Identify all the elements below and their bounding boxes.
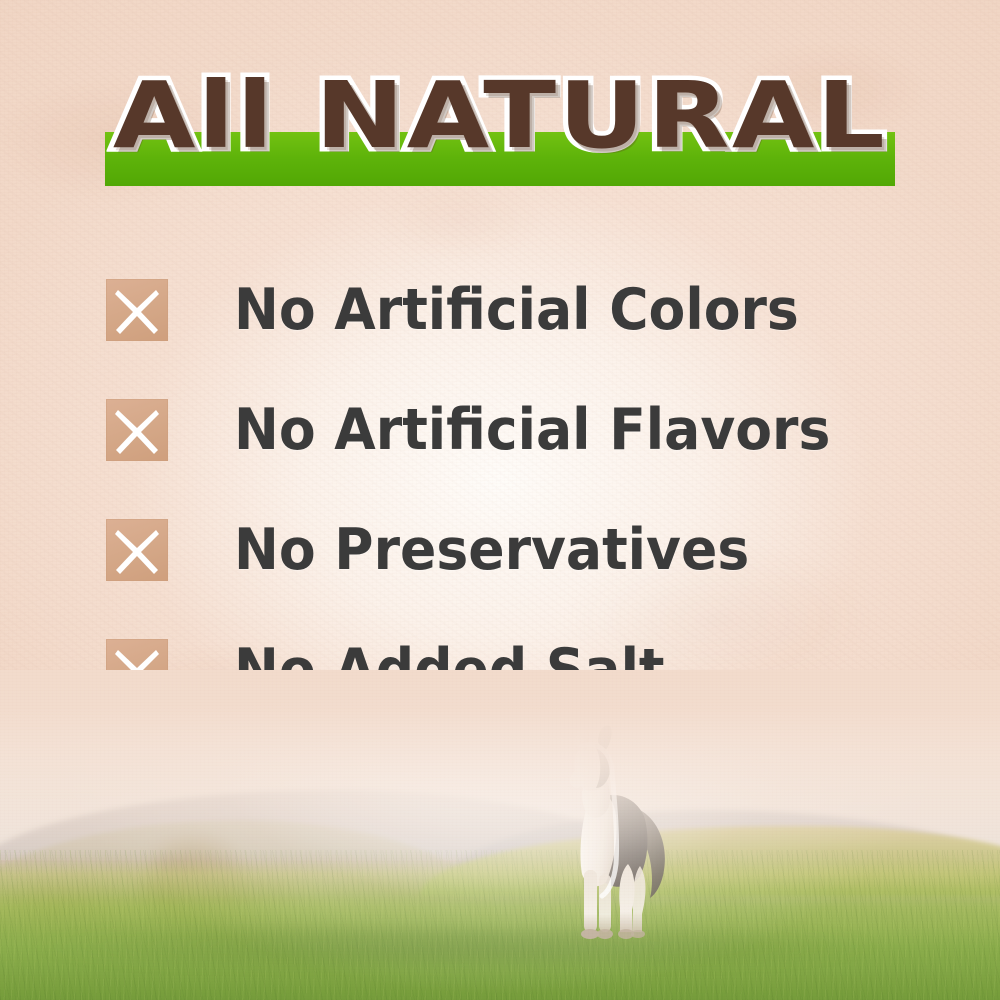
photo-scene <box>0 670 1000 1000</box>
x-mark-icon <box>106 399 168 461</box>
all-natural-product-infographic: All NATURAL No Artificial Colors No Arti… <box>0 0 1000 1000</box>
border-collie-dog <box>536 724 686 944</box>
list-item: No Artificial Colors <box>0 250 1000 370</box>
list-item-label: No Preservatives <box>234 520 749 580</box>
list-item: No Preservatives <box>0 490 1000 610</box>
list-item-label: No Artificial Colors <box>234 280 799 340</box>
grass-texture <box>0 850 1000 1000</box>
x-mark-icon <box>106 519 168 581</box>
feature-checklist: No Artificial Colors No Artificial Flavo… <box>0 250 1000 730</box>
list-item: No Artificial Flavors <box>0 370 1000 490</box>
header: All NATURAL <box>0 0 1000 215</box>
page-title: All NATURAL <box>0 70 1000 162</box>
list-item-label: No Artificial Flavors <box>234 400 830 460</box>
landscape-photo <box>0 670 1000 1000</box>
x-mark-icon <box>106 279 168 341</box>
